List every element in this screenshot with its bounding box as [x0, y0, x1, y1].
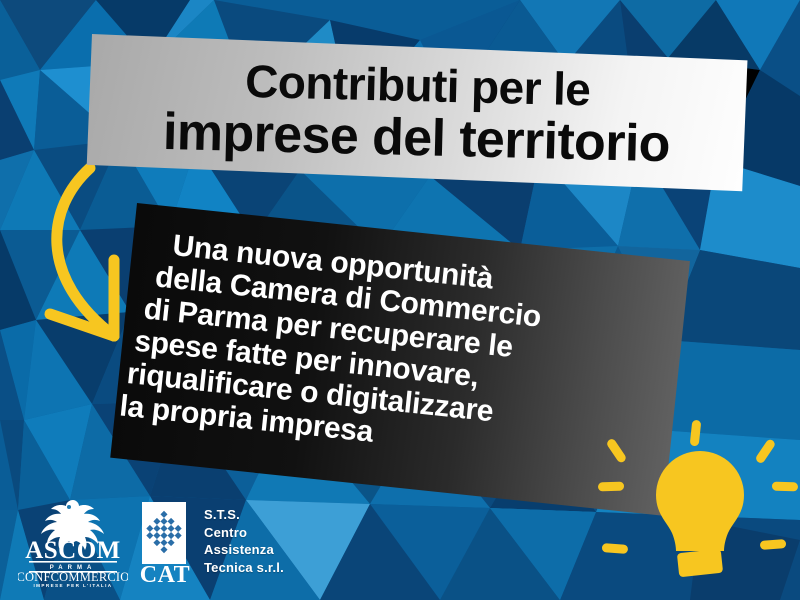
- svg-text:CONFCOMMERCIO: CONFCOMMERCIO: [18, 570, 128, 584]
- sts-line-1: S.T.S.: [204, 506, 284, 524]
- title-line-2: imprese del territorio: [162, 104, 670, 170]
- lightbulb-idea-icon: [598, 418, 798, 600]
- sts-text-block: S.T.S. Centro Assistenza Tecnica s.r.l.: [204, 506, 284, 576]
- poster-canvas: Contributi per le imprese del territorio…: [0, 0, 800, 600]
- title-text-block: Contributi per le imprese del territorio: [88, 39, 747, 186]
- sts-line-3: Assistenza: [204, 541, 284, 559]
- sts-line-4: Tecnica s.r.l.: [204, 559, 284, 577]
- cat-logo: CAT: [136, 502, 198, 584]
- title-line-1: Contributi per le: [245, 56, 591, 112]
- sts-line-2: Centro: [204, 524, 284, 542]
- title-banner: Contributi per le imprese del territorio: [87, 34, 748, 191]
- logo-row: ASCOM PARMA CONFCOMMERCIO IMPRESE PER L'…: [18, 496, 308, 592]
- svg-text:IMPRESE PER L'ITALIA: IMPRESE PER L'ITALIA: [33, 583, 112, 588]
- ascom-logo: ASCOM PARMA CONFCOMMERCIO IMPRESE PER L'…: [18, 496, 128, 588]
- svg-text:ASCOM: ASCOM: [25, 537, 121, 564]
- cat-mark-label: CAT: [140, 562, 190, 584]
